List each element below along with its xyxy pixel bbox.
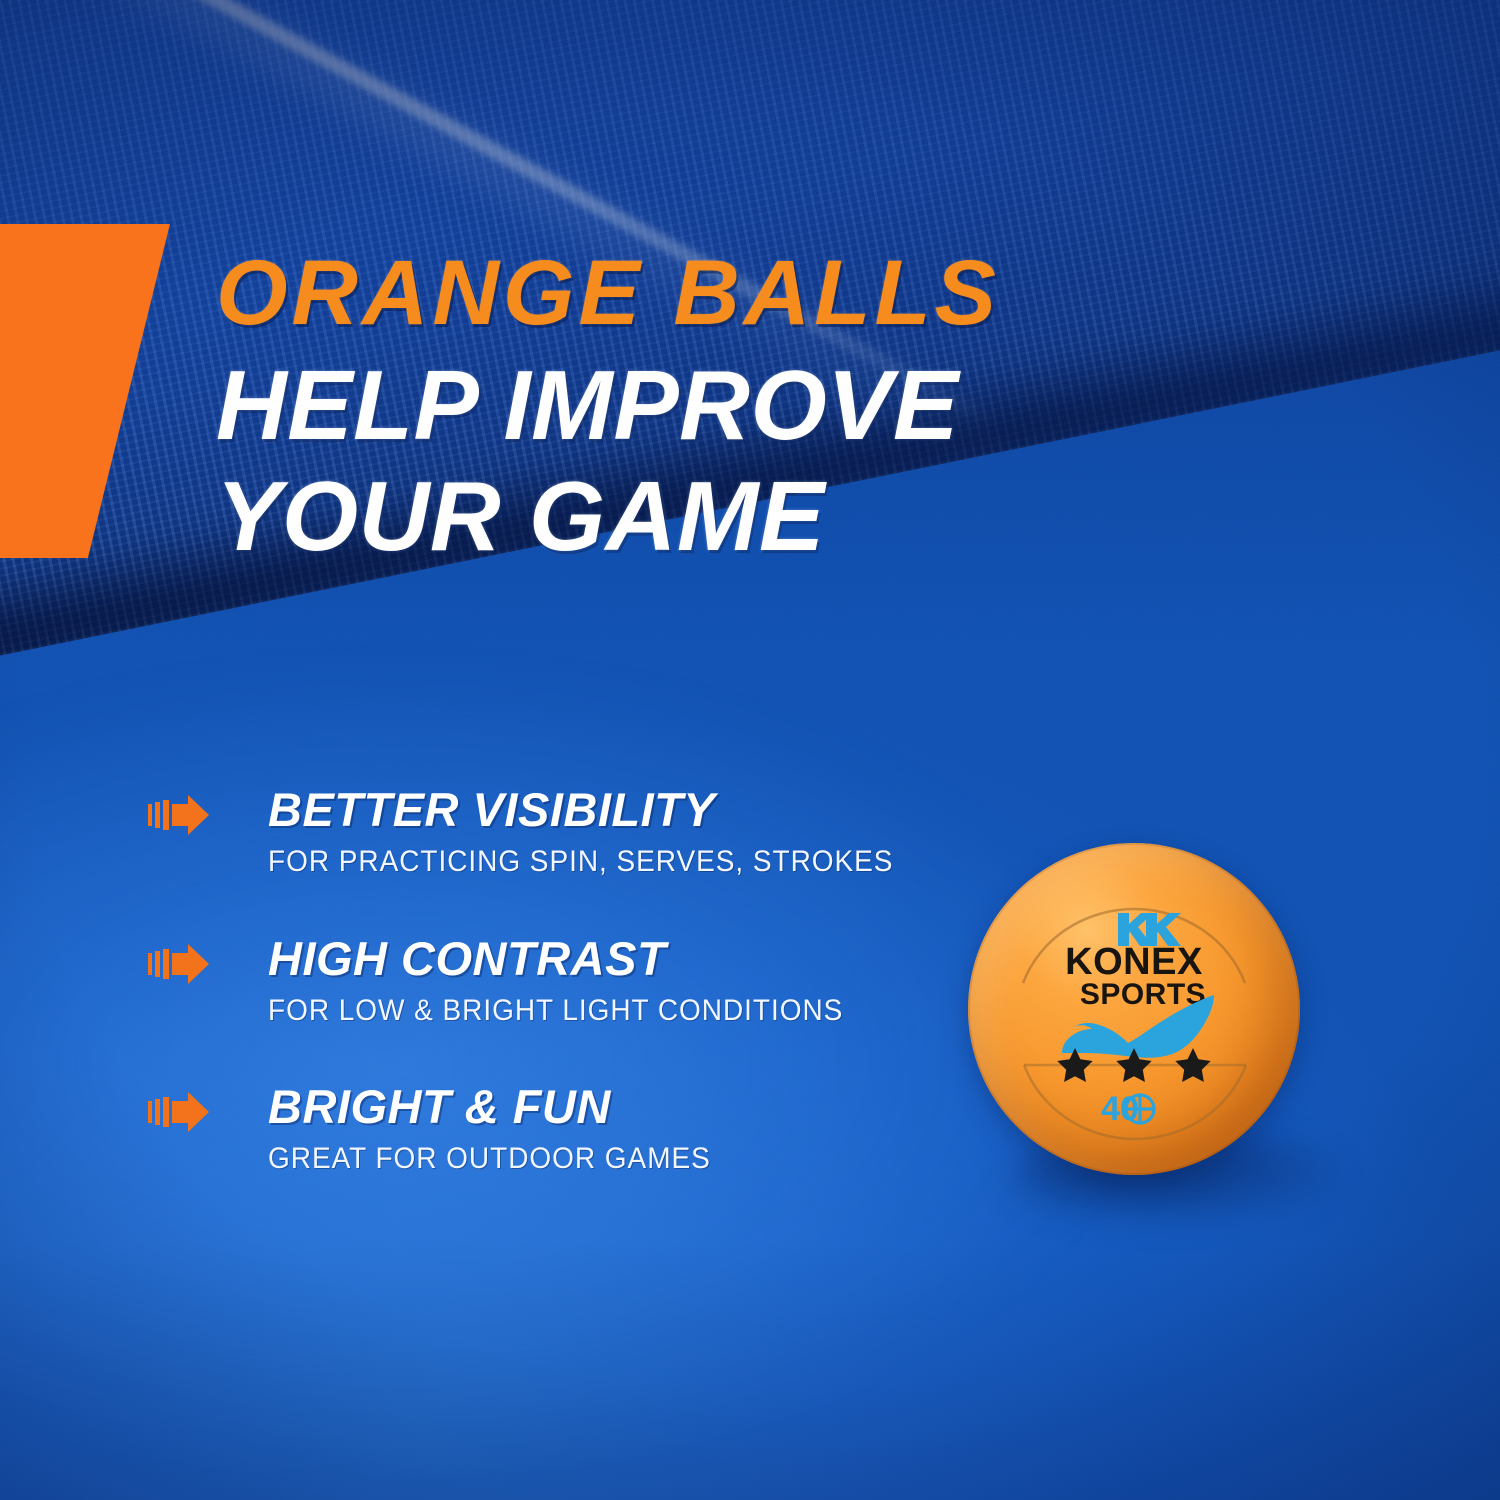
feature-text: BRIGHT & FUN GREAT FOR OUTDOOR GAMES xyxy=(268,1083,968,1174)
feature-title: BETTER VISIBILITY xyxy=(268,783,715,836)
headline-block: ORANGE BALLS HELP IMPROVE YOUR GAME xyxy=(216,248,1416,565)
headline-line-2: HELP IMPROVE xyxy=(216,357,1416,454)
arrow-right-motion-icon xyxy=(148,792,210,838)
feature-title: HIGH CONTRAST xyxy=(268,932,666,985)
feature-item: BETTER VISIBILITY FOR PRACTICING SPIN, S… xyxy=(148,786,968,877)
feature-subtitle: FOR LOW & BRIGHT LIGHT CONDITIONS xyxy=(268,996,933,1026)
arrow-right-motion-icon xyxy=(148,1089,210,1135)
feature-subtitle: GREAT FOR OUTDOOR GAMES xyxy=(268,1144,933,1174)
feature-item: BRIGHT & FUN GREAT FOR OUTDOOR GAMES xyxy=(148,1083,968,1174)
promo-banner: ORANGE BALLS HELP IMPROVE YOUR GAME BETT… xyxy=(0,0,1500,1500)
size-crosshair-icon xyxy=(1126,1095,1154,1123)
svg-text:KONEX: KONEX xyxy=(1065,941,1203,983)
bottom-fade xyxy=(0,1240,1500,1500)
headline-line-1: ORANGE BALLS xyxy=(216,248,1416,339)
feature-text: BETTER VISIBILITY FOR PRACTICING SPIN, S… xyxy=(268,786,968,877)
feature-item: HIGH CONTRAST FOR LOW & BRIGHT LIGHT CON… xyxy=(148,935,968,1026)
headline-line-3: YOUR GAME xyxy=(216,468,1416,565)
ping-pong-ball: KONEX SPORTS 40 xyxy=(968,843,1300,1175)
feature-subtitle: FOR PRACTICING SPIN, SERVES, STROKES xyxy=(268,847,933,877)
feature-title: BRIGHT & FUN xyxy=(268,1080,611,1133)
arrow-right-motion-icon xyxy=(148,941,210,987)
feature-text: HIGH CONTRAST FOR LOW & BRIGHT LIGHT CON… xyxy=(268,935,968,1026)
three-star-rating xyxy=(1057,1048,1210,1082)
feature-list: BETTER VISIBILITY FOR PRACTICING SPIN, S… xyxy=(148,786,968,1174)
svg-text:SPORTS: SPORTS xyxy=(1080,978,1206,1011)
